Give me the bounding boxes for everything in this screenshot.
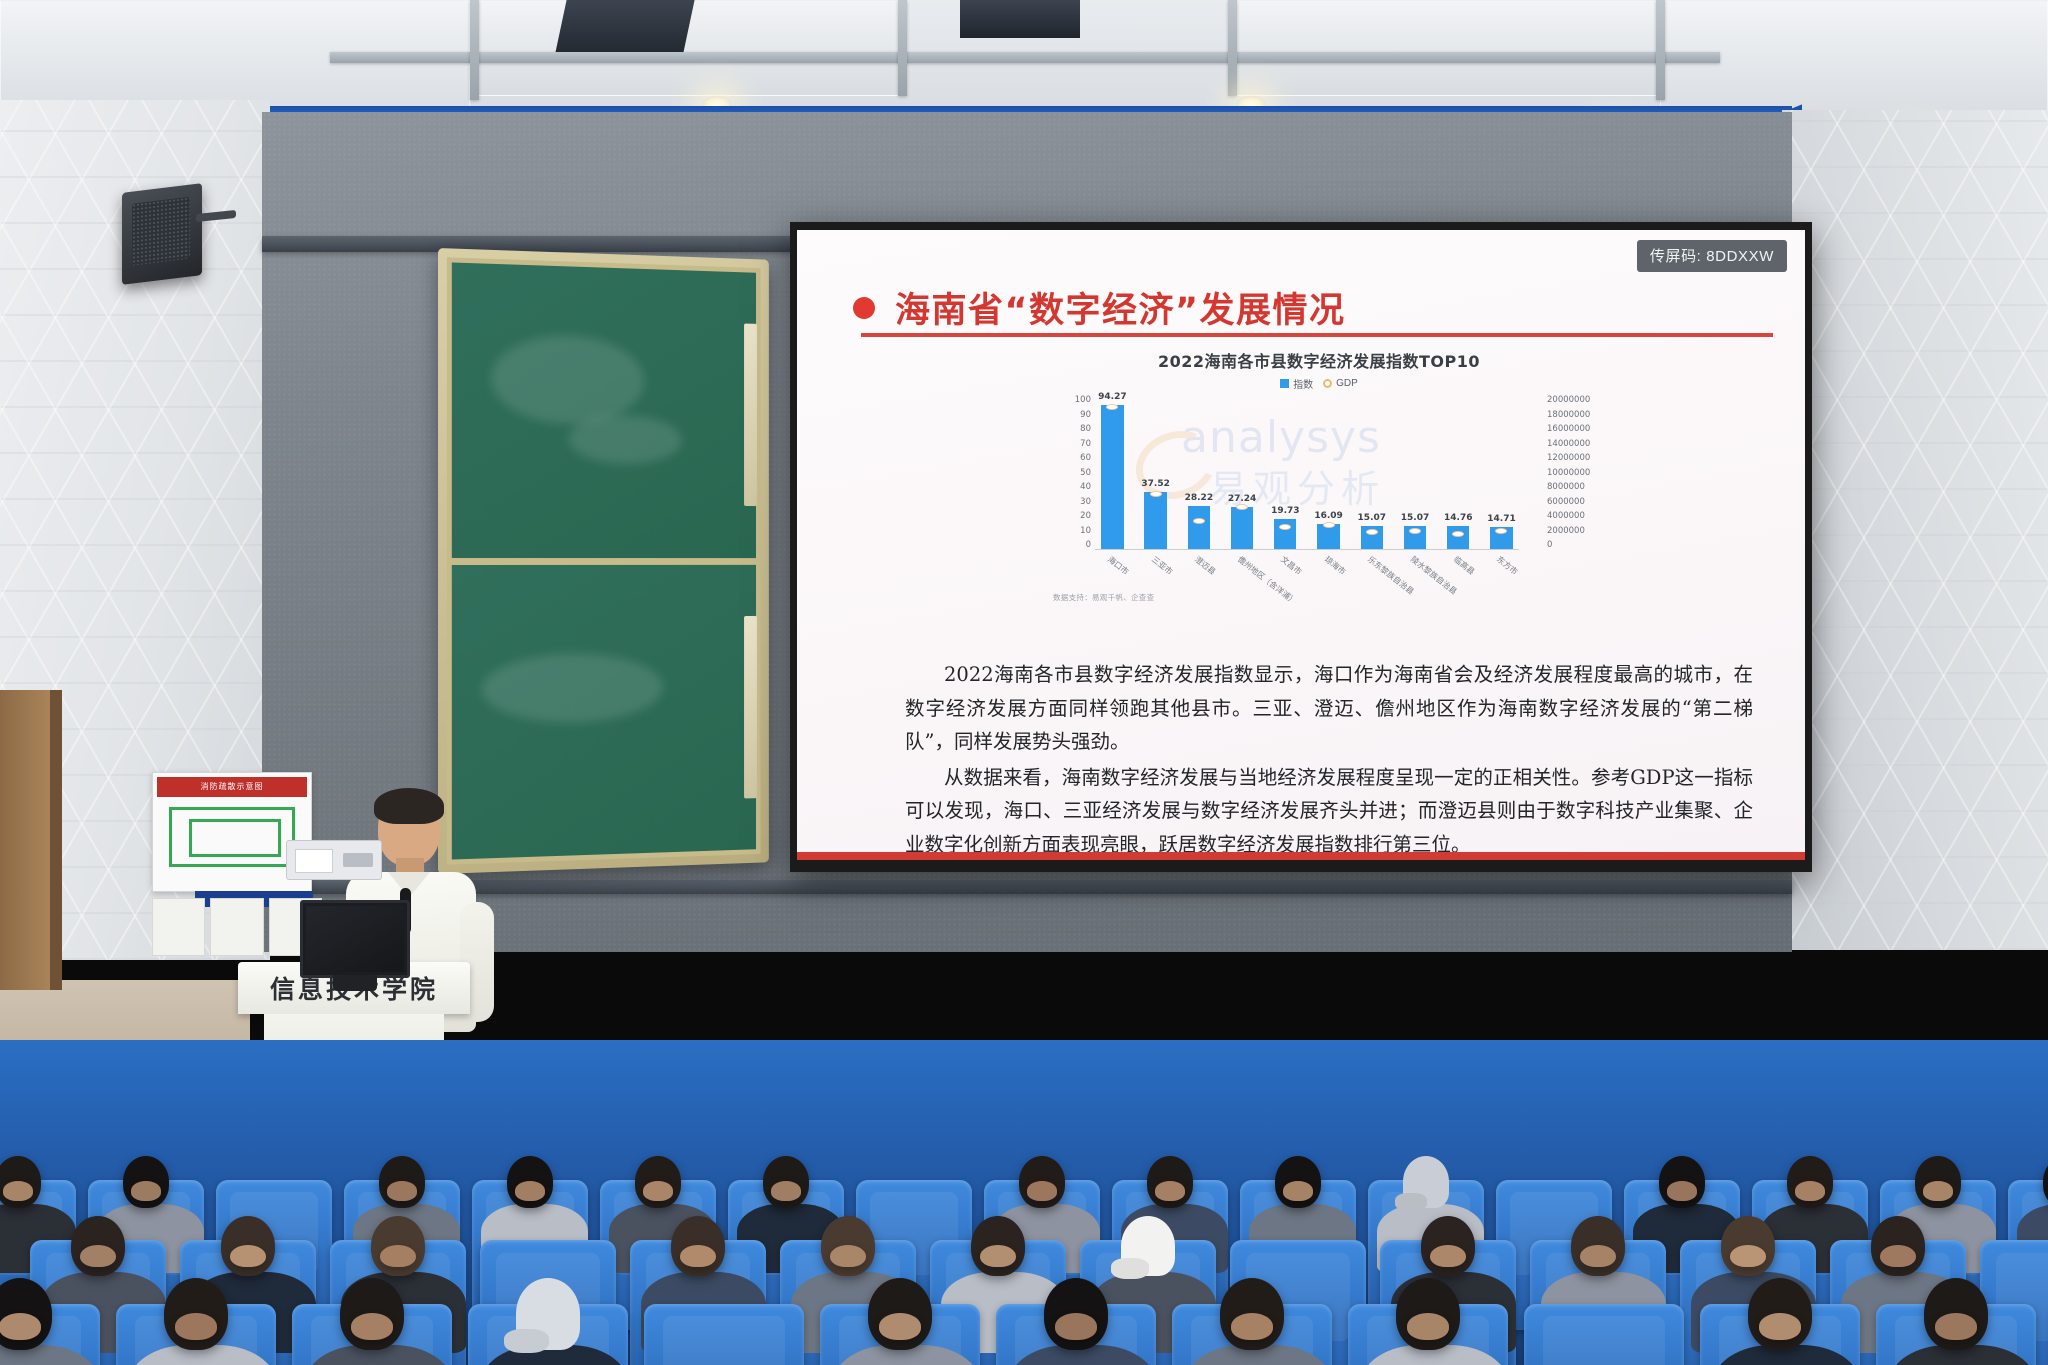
bar-value-label: 14.71 (1487, 514, 1515, 524)
bar (1144, 492, 1166, 549)
bar (1101, 405, 1123, 549)
y-tick: 30 (1080, 498, 1091, 507)
cast-code-badge: 传屏码: 8DDXXW (1637, 240, 1787, 272)
audience-member-face (1795, 1181, 1825, 1200)
audience-member-face (1730, 1245, 1766, 1268)
projection-screen: 传屏码: 8DDXXW 海南省“数字经济”发展情况 2022海南各市县数字经济发… (790, 222, 1812, 872)
y2-tick: 6000000 (1547, 498, 1585, 507)
auditorium-seat (644, 1304, 804, 1365)
slide-title: 海南省“数字经济”发展情况 (895, 282, 1346, 333)
slide-body-text: 2022海南各市县数字经济发展指数显示，海口作为海南省会及经济发展程度最高的城市… (905, 658, 1753, 860)
bar-group: 94.2737.5228.2227.2419.7316.0915.0715.07… (1095, 396, 1519, 550)
x-axis-tick-label: 东方市 (1484, 552, 1519, 632)
bar-value-label: 16.09 (1314, 511, 1342, 521)
y-tick: 100 (1075, 396, 1091, 405)
bar-value-label: 28.22 (1185, 493, 1213, 503)
audience-member-face (1155, 1181, 1185, 1200)
audience-member-face (1231, 1313, 1273, 1340)
outlet (152, 898, 205, 956)
wall-speaker (122, 183, 202, 285)
auditorium-seat (1524, 1304, 1684, 1365)
x-axis-tick-label: 儋州地区（含洋浦） (1225, 552, 1260, 632)
audience-member-face (131, 1181, 161, 1200)
y-axis-left: 100 90 80 70 60 50 40 30 20 10 0 (1049, 396, 1091, 550)
y2-tick: 12000000 (1547, 454, 1590, 463)
x-axis-tick-label: 乐东黎族自治县 (1354, 552, 1389, 632)
chart-title: 2022海南各市县数字经济发展指数TOP10 (1049, 348, 1589, 372)
x-axis-labels: 海口市三亚市澄迈县儋州地区（含洋浦）文昌市琼海市乐东黎族自治县陵水黎族自治县临高… (1095, 552, 1519, 632)
audience-member-face (1580, 1245, 1616, 1268)
audience-member-face (515, 1181, 545, 1200)
body-paragraph-1: 2022海南各市县数字经济发展指数显示，海口作为海南省会及经济发展程度最高的城市… (905, 658, 1753, 759)
presenter-hair (374, 788, 444, 824)
bar-column: 14.71 (1484, 396, 1519, 549)
audience-member-face (1935, 1313, 1977, 1340)
door-frame (0, 690, 62, 990)
x-axis-tick-label: 澄迈县 (1181, 552, 1216, 632)
lecture-hall-scene: 传屏码: 8DDXXW 海南省“数字经济”发展情况 2022海南各市县数字经济发… (0, 0, 2048, 1365)
gdp-marker-icon (1193, 518, 1205, 524)
y-tick: 90 (1080, 411, 1091, 420)
body-paragraph-2: 从数据来看，海南数字经济发展与当地经济发展程度呈现一定的正相关性。参考GDP这一… (905, 761, 1753, 860)
x-axis-tick-label: 文昌市 (1268, 552, 1303, 632)
audience-member-face (1283, 1181, 1313, 1200)
chart-source-note: 数据支持：易观千帆、企查查 (1053, 592, 1154, 603)
bar (1361, 526, 1383, 549)
audience-member-face (1430, 1245, 1466, 1268)
audience-member-face (680, 1245, 716, 1268)
y-tick: 20 (1080, 512, 1091, 521)
y2-tick: 14000000 (1547, 440, 1590, 449)
audience-member-face (80, 1245, 116, 1268)
audience-member-cap (1403, 1156, 1449, 1208)
bar-column: 15.07 (1354, 396, 1389, 549)
audience-member-cap (516, 1278, 580, 1350)
y-tick: 60 (1080, 454, 1091, 463)
wall-trim-band-lower (262, 880, 1792, 894)
lectern-control-panel[interactable] (286, 840, 382, 880)
gdp-marker-icon (1279, 524, 1291, 530)
y2-tick: 20000000 (1547, 396, 1590, 405)
bar-value-label: 94.27 (1098, 392, 1126, 402)
bar-value-label: 14.76 (1444, 513, 1472, 523)
y2-tick: 16000000 (1547, 425, 1590, 434)
bar-column: 27.24 (1225, 396, 1260, 549)
bar-value-label: 27.24 (1228, 494, 1256, 504)
audience-member-face (0, 1313, 41, 1340)
chart-container: 2022海南各市县数字经济发展指数TOP10 指数 GDP analysys (1049, 348, 1589, 606)
gdp-marker-icon (1495, 528, 1507, 534)
wall-right (1782, 110, 2048, 950)
blackboard (438, 248, 769, 874)
slide-canvas: 传屏码: 8DDXXW 海南省“数字经济”发展情况 2022海南各市县数字经济发… (797, 230, 1805, 860)
audience-member-face (1407, 1313, 1449, 1340)
blackboard-slider-track-2 (744, 616, 757, 799)
gdp-marker-icon (1366, 529, 1378, 535)
audience-member-cap (1121, 1216, 1175, 1276)
bar (1274, 519, 1296, 549)
bar (1490, 527, 1512, 550)
audience-member-face (1055, 1313, 1097, 1340)
bar (1231, 507, 1253, 549)
y-tick: 40 (1080, 483, 1091, 492)
bar-value-label: 37.52 (1141, 479, 1169, 489)
audience-member-face (1880, 1245, 1916, 1268)
legend-item-index: 指数 (1280, 376, 1313, 391)
bullet-dot-icon (853, 297, 875, 319)
bar (1404, 526, 1426, 549)
gdp-marker-icon (1236, 504, 1248, 510)
gdp-marker-icon (1452, 531, 1464, 537)
bar-column: 37.52 (1138, 396, 1173, 549)
chart-legend: 指数 GDP (1049, 376, 1589, 391)
bar-value-label: 15.07 (1401, 513, 1429, 523)
slide-header: 海南省“数字经济”发展情况 (853, 282, 1346, 333)
audience-member-face (1759, 1313, 1801, 1340)
y-tick: 80 (1080, 425, 1091, 434)
lectern-monitor[interactable] (300, 900, 410, 978)
bar-column: 28.22 (1181, 396, 1216, 549)
y2-tick: 4000000 (1547, 512, 1585, 521)
y-tick: 0 (1086, 541, 1091, 550)
bar-column: 19.73 (1268, 396, 1303, 549)
audience-member-face (1027, 1181, 1057, 1200)
y-tick: 50 (1080, 469, 1091, 478)
audience-member-face (3, 1181, 33, 1200)
evacuation-sign-title: 消防疏散示意图 (157, 777, 307, 797)
bar-value-label: 15.07 (1358, 513, 1386, 523)
chart-plot-area: analysys 易观分析 100 90 80 70 60 50 40 30 2… (1049, 396, 1589, 574)
gdp-marker-icon (1409, 528, 1421, 534)
y-axis-right: 20000000 18000000 16000000 14000000 1200… (1547, 396, 1589, 550)
audience-member-face (387, 1181, 417, 1200)
lectern-monitor-screen (306, 906, 404, 972)
y2-tick: 2000000 (1547, 527, 1585, 536)
y-tick: 70 (1080, 440, 1091, 449)
y2-tick: 8000000 (1547, 483, 1585, 492)
x-axis-tick-label: 琼海市 (1311, 552, 1346, 632)
bar-column: 16.09 (1311, 396, 1346, 549)
gdp-marker-icon (1323, 522, 1335, 528)
slide-footer-bar (797, 852, 1805, 860)
outlet (210, 898, 263, 956)
bar-column: 14.76 (1441, 396, 1476, 549)
bar-value-label: 19.73 (1271, 506, 1299, 516)
audience-member-face (830, 1245, 866, 1268)
gdp-marker-icon (1150, 491, 1162, 497)
y2-tick: 0 (1547, 541, 1552, 550)
legend-swatch-marker-icon (1323, 379, 1332, 388)
audience-member-face (643, 1181, 673, 1200)
legend-label-index: 指数 (1293, 376, 1313, 391)
bar (1188, 506, 1210, 549)
legend-swatch-bar-icon (1280, 379, 1289, 388)
audience-member-face (351, 1313, 393, 1340)
legend-item-gdp: GDP (1323, 378, 1358, 389)
audience-member-face (1923, 1181, 1953, 1200)
blackboard-slider-track (744, 324, 757, 507)
evacuation-map-graphic (169, 807, 295, 867)
x-axis-tick-label: 临高县 (1441, 552, 1476, 632)
bar-column: 94.27 (1095, 396, 1130, 549)
y-tick: 10 (1080, 527, 1091, 536)
title-divider (861, 333, 1773, 337)
audience-member-face (380, 1245, 416, 1268)
y2-tick: 10000000 (1547, 469, 1590, 478)
audience-area (0, 1040, 2048, 1365)
wall-outlet-panel (152, 898, 322, 956)
audience-member-face (230, 1245, 266, 1268)
y2-tick: 18000000 (1547, 411, 1590, 420)
bar (1317, 524, 1339, 549)
legend-label-gdp: GDP (1336, 378, 1358, 389)
audience-member-face (175, 1313, 217, 1340)
audience-member-face (771, 1181, 801, 1200)
audience-member-face (1667, 1181, 1697, 1200)
gdp-marker-icon (1106, 404, 1118, 410)
audience-member-face (879, 1313, 921, 1340)
audience-member-face (980, 1245, 1016, 1268)
bar (1447, 526, 1469, 549)
x-axis-tick-label: 陵水黎族自治县 (1398, 552, 1433, 632)
bar-column: 15.07 (1398, 396, 1433, 549)
